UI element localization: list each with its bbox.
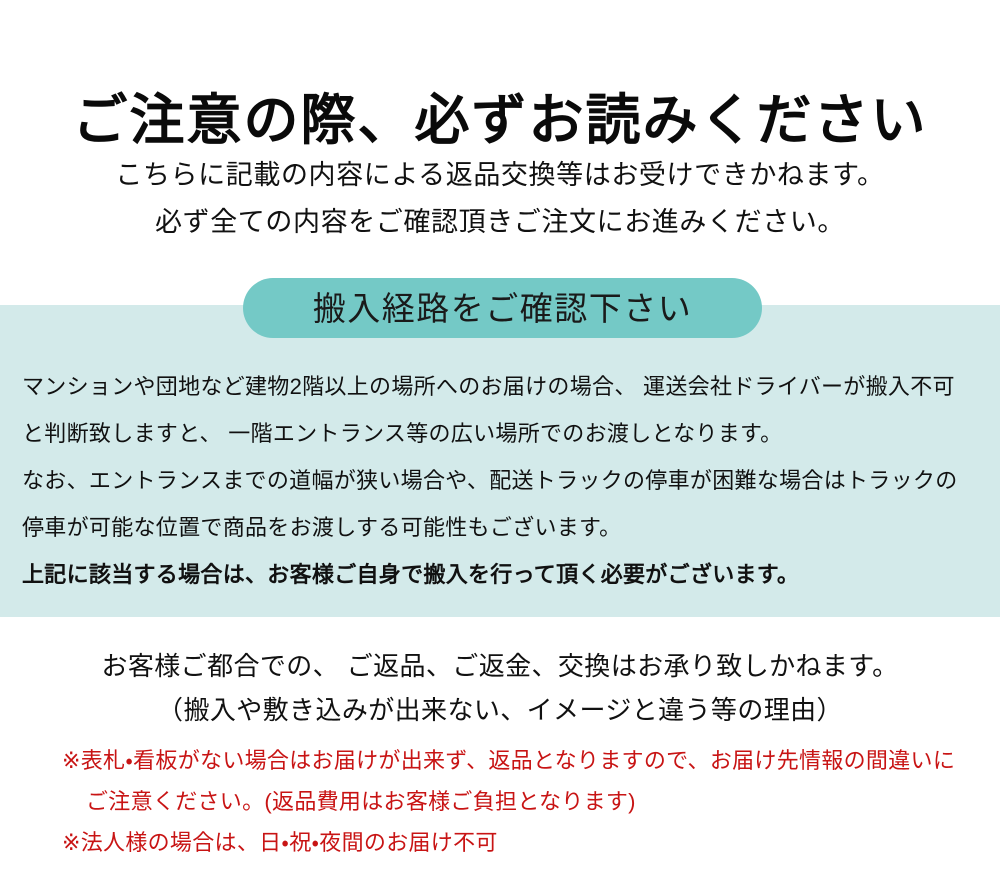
warning-line: ※法人様の場合は、日・祝・夜間のお届け不可 <box>62 822 982 863</box>
panel-line: と判断致しますと、 一階エントランス等の広い場所でのお渡しとなります。 <box>22 410 982 457</box>
return-policy-notes: お客様ご都合での、 ご返品、ご返金、交換はお承り致しかねます。 （搬入や敷き込み… <box>0 644 1000 732</box>
panel-line-emphasis: 上記に該当する場合は、お客様ご自身で搬入を行って頂く必要がございます。 <box>22 551 982 598</box>
lead-line: 必ず全ての内容をご確認頂きご注文にお進みください。 <box>0 199 1000 246</box>
panel-line: マンションや団地など建物2階以上の場所へのお届けの場合、 運送会社ドライバーが搬… <box>22 363 982 410</box>
warning-line: ご注意ください。(返品費用はお客様ご負担となります) <box>62 781 982 822</box>
banner-label: 搬入経路をご確認下さい <box>313 292 693 325</box>
warning-line: ※表札・看板がない場合はお届けが出来ず、返品となりますので、お届け先情報の間違い… <box>62 740 982 781</box>
lead-line: こちらに記載の内容による返品交換等はお受けできかねます。 <box>0 152 1000 199</box>
delivery-route-banner: 搬入経路をご確認下さい <box>243 278 762 338</box>
note-line: お客様ご都合での、 ご返品、ご返金、交換はお承り致しかねます。 <box>0 644 1000 688</box>
note-line: （搬入や敷き込みが出来ない、イメージと違う等の理由） <box>0 688 1000 732</box>
panel-line: なお、エントランスまでの道幅が狭い場合や、配送トラックの停車が困難な場合はトラッ… <box>22 457 982 504</box>
panel-body-text: マンションや団地など建物2階以上の場所へのお届けの場合、 運送会社ドライバーが搬… <box>22 363 982 598</box>
lead-paragraph: こちらに記載の内容による返品交換等はお受けできかねます。 必ず全ての内容をご確認… <box>0 152 1000 246</box>
panel-line: 停車が可能な位置で商品をお渡しする可能性もございます。 <box>22 504 982 551</box>
page-title: ご注意の際、必ずお読みください <box>0 89 1000 152</box>
notice-page: ご注意の際、必ずお読みください こちらに記載の内容による返品交換等はお受けできか… <box>0 0 1000 880</box>
red-warning-list: ※表札・看板がない場合はお届けが出来ず、返品となりますので、お届け先情報の間違い… <box>62 740 982 863</box>
